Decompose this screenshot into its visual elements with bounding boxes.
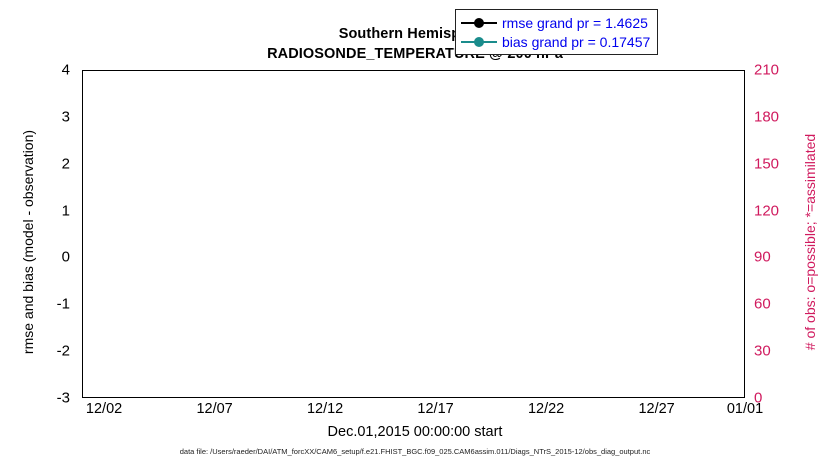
chart-title: Southern Hemisphere RADIOSONDE_TEMPERATU… <box>0 24 830 64</box>
chart-legend: rmse grand pr = 1.4625bias grand pr = 0.… <box>455 9 658 55</box>
y-tick-left-4: 4 <box>62 62 70 79</box>
y-tick-left--1: -1 <box>57 296 70 313</box>
y-axis-right-ticks: 2101801501209060300 <box>748 70 808 398</box>
y-tick-left--3: -3 <box>57 390 70 407</box>
chart-title-line1: Southern Hemisphere <box>0 24 830 44</box>
y-tick-right-150: 150 <box>754 155 779 172</box>
x-tick-12-12: 12/12 <box>307 401 343 417</box>
data-file-caption: data file: /Users/raeder/DAI/ATM_forcXX/… <box>0 447 830 456</box>
x-axis-title: Dec.01,2015 00:00:00 start <box>0 424 830 440</box>
plot-area <box>82 70 745 398</box>
plot-border <box>82 70 745 398</box>
legend-swatch-bias <box>461 36 497 48</box>
x-tick-12-02: 12/02 <box>86 401 122 417</box>
y-axis-left-ticks: 43210-1-2-3 <box>0 70 76 398</box>
legend-swatch-rmse <box>461 17 497 29</box>
legend-item-bias: bias grand pr = 0.17457 <box>461 32 650 51</box>
y-tick-left-3: 3 <box>62 108 70 125</box>
legend-label-bias: bias grand pr = 0.17457 <box>502 34 650 50</box>
x-tick-01-01: 01/01 <box>727 401 763 417</box>
y-axis-right-title: # of obs: o=possible; *=assimilated <box>802 92 818 392</box>
y-tick-left-2: 2 <box>62 155 70 172</box>
y-tick-right-60: 60 <box>754 296 771 313</box>
y-axis-left-title: rmse and bias (model - observation) <box>20 92 36 392</box>
y-tick-left-1: 1 <box>62 202 70 219</box>
figure-canvas: Southern Hemisphere RADIOSONDE_TEMPERATU… <box>0 0 830 470</box>
y-tick-right-90: 90 <box>754 249 771 266</box>
y-tick-right-120: 120 <box>754 202 779 219</box>
x-tick-12-27: 12/27 <box>638 401 674 417</box>
legend-item-rmse: rmse grand pr = 1.4625 <box>461 13 650 32</box>
y-tick-right-30: 30 <box>754 343 771 360</box>
y-tick-left--2: -2 <box>57 343 70 360</box>
y-tick-left-0: 0 <box>62 249 70 266</box>
y-tick-right-180: 180 <box>754 108 779 125</box>
legend-label-rmse: rmse grand pr = 1.4625 <box>502 15 648 31</box>
x-tick-12-17: 12/17 <box>417 401 453 417</box>
x-tick-12-22: 12/22 <box>528 401 564 417</box>
chart-title-line2: RADIOSONDE_TEMPERATURE @ 200 hPa <box>0 44 830 64</box>
y-tick-right-210: 210 <box>754 62 779 79</box>
x-axis-ticks: 12/0212/0712/1212/1712/2212/2701/01 <box>82 401 745 421</box>
x-tick-12-07: 12/07 <box>196 401 232 417</box>
